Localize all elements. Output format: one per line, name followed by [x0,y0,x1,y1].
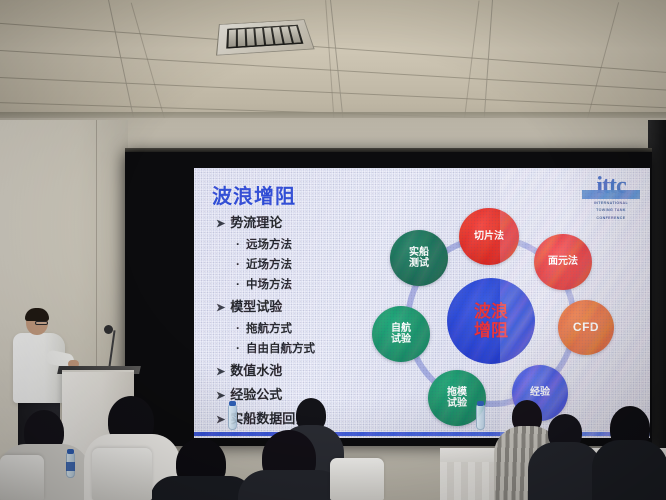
diagram-node-fullscale: 实船 测试 [390,230,448,286]
diagram-center-node: 波浪 增阻 [447,278,535,364]
bullet-item: · 拖航方式 [236,320,376,336]
glasses-icon [35,321,48,325]
water-bottle [476,404,485,430]
bullet-item: · 中场方法 [236,276,376,292]
bullet-text: 远场方法 [246,236,292,252]
center-label-line1: 波浪 [474,302,508,321]
bottle-cap [67,449,74,454]
arrow-bullet-icon: ➤ [216,217,225,230]
node-label-line1: 实船 [409,247,429,259]
bullet-text: 拖航方式 [246,320,292,336]
chair [330,458,384,500]
diagram-node-slicing: 切片法 [459,208,519,265]
presenter-torso [13,333,65,403]
presentation-slide: 波浪增阻 ittc INTERNATIONAL TOWING TANK CONF… [194,168,650,438]
bottle-cap [477,401,484,406]
node-label: 切片法 [474,231,504,243]
air-vent [216,19,315,55]
bullet-text: 中场方法 [246,276,292,292]
circular-diagram: 波浪 增阻 切片法 面元法 CFD 经验 拖模 试验 自航 试验 [362,210,632,432]
audience-body [528,442,602,500]
diagram-node-cfd: CFD [558,300,614,355]
bullet-item: ➤ 模型试验 [216,296,376,315]
bullet-item: ➤ 势流理论 [216,212,376,231]
dot-bullet-icon: · [236,238,240,250]
bullet-item: ➤ 经验公式 [216,384,376,403]
presenter-hair [25,308,49,321]
bottle-cap [229,401,236,406]
node-label-line2: 测试 [409,258,429,270]
dot-bullet-icon: · [236,258,240,270]
screenshot-root: 波浪增阻 ittc INTERNATIONAL TOWING TANK CONF… [0,0,666,500]
bullet-text: 数值水池 [230,360,282,379]
bullet-text: 自由自航方式 [246,340,315,356]
bullet-item: · 近场方法 [236,256,376,272]
arrow-bullet-icon: ➤ [216,389,225,402]
center-label-line2: 增阻 [474,321,508,340]
arrow-bullet-icon: ➤ [216,365,225,378]
dot-bullet-icon: · [236,322,240,334]
bottle-label [66,462,75,471]
bullet-item: ➤ 数值水池 [216,360,376,379]
node-label: 经验 [530,387,550,399]
node-label: 面元法 [548,256,578,268]
arrow-bullet-icon: ➤ [216,413,225,426]
arrow-bullet-icon: ➤ [216,301,225,314]
node-label-line1: 自航 [391,323,411,335]
diagram-node-panel: 面元法 [534,234,592,290]
microphone-head-icon [104,325,113,334]
slide-bullet-list: ➤ 势流理论 · 远场方法 · 近场方法 · 中场方法 ➤ 模型试验 · 拖航方… [216,212,376,432]
water-bottle [228,404,237,430]
chair [0,455,44,500]
chair [92,448,152,500]
slide-title: 波浪增阻 [212,180,296,209]
audience-body [592,440,666,500]
ittc-subtitle-1: INTERNATIONAL [594,201,628,206]
bullet-text: 经验公式 [230,384,282,403]
node-label: CFD [573,321,599,335]
dot-bullet-icon: · [236,342,240,354]
bullet-text: 模型试验 [230,296,282,315]
node-label-line2: 试验 [391,334,411,346]
bullet-text: 近场方法 [246,256,292,272]
node-label-line2: 试验 [447,398,467,410]
dot-bullet-icon: · [236,278,240,290]
bullet-item: · 远场方法 [236,236,376,252]
bullet-item: · 自由自航方式 [236,340,376,356]
ittc-logo-bar [582,190,640,199]
bullet-text: 势流理论 [230,212,282,231]
node-label-line1: 拖模 [447,387,467,399]
diagram-node-selfpropulsion: 自航 试验 [372,306,430,362]
